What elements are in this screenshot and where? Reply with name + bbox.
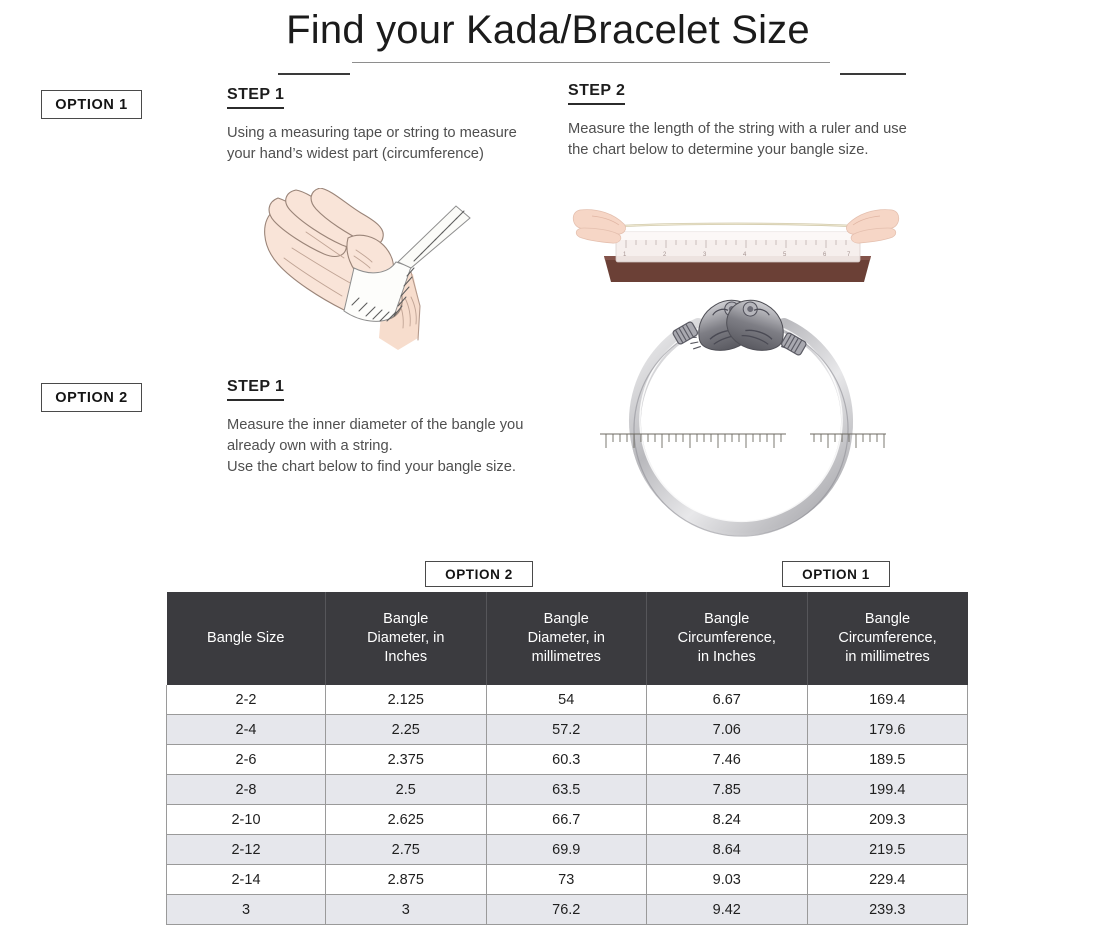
cell-value-4: 219.5 — [807, 835, 968, 865]
cell-value-2: 57.2 — [486, 715, 647, 745]
open-kada-bangle-with-ruler-photo — [580, 288, 902, 550]
cell-value-4: 209.3 — [807, 805, 968, 835]
cell-value-3: 7.06 — [647, 715, 808, 745]
option1-step1-body: Using a measuring tape or string to meas… — [227, 123, 517, 165]
option1-step1-title: STEP 1 — [227, 86, 284, 109]
cell-value-3: 8.64 — [647, 835, 808, 865]
cell-value-4: 239.3 — [807, 895, 968, 925]
cell-value-3: 9.03 — [647, 865, 808, 895]
cell-bangle-size: 2-12 — [167, 835, 326, 865]
cell-value-1: 3 — [326, 895, 487, 925]
cell-value-2: 63.5 — [486, 775, 647, 805]
cell-value-3: 8.24 — [647, 805, 808, 835]
cell-value-4: 179.6 — [807, 715, 968, 745]
cell-bangle-size: 2-4 — [167, 715, 326, 745]
cell-value-4: 169.4 — [807, 685, 968, 715]
bangle-size-table: Bangle SizeBangleDiameter, inInchesBangl… — [166, 592, 968, 925]
table-row: 2-42.2557.27.06179.6 — [167, 715, 968, 745]
cell-value-1: 2.375 — [326, 745, 487, 775]
table-body: 2-22.125546.67169.42-42.2557.27.06179.62… — [167, 685, 968, 925]
table-row: 2-122.7569.98.64219.5 — [167, 835, 968, 865]
string-measured-with-ruler-photo: 123 456 7 — [566, 194, 906, 294]
option1-step1-block: STEP 1 Using a measuring tape or string … — [227, 86, 517, 165]
cell-value-1: 2.625 — [326, 805, 487, 835]
cell-value-2: 73 — [486, 865, 647, 895]
cell-value-3: 6.67 — [647, 685, 808, 715]
cell-bangle-size: 2-2 — [167, 685, 326, 715]
option-2-badge: OPTION 2 — [41, 383, 142, 412]
table-header-cell-3: BangleCircumference,in Inches — [647, 592, 808, 685]
cell-value-1: 2.5 — [326, 775, 487, 805]
cell-value-2: 69.9 — [486, 835, 647, 865]
decorative-rule-left — [278, 73, 350, 75]
hand-with-measuring-tape-icon — [248, 188, 498, 373]
table-option-2-badge: OPTION 2 — [425, 561, 533, 587]
cell-value-4: 189.5 — [807, 745, 968, 775]
cell-value-4: 229.4 — [807, 865, 968, 895]
option2-step1-title: STEP 1 — [227, 378, 284, 401]
cell-value-4: 199.4 — [807, 775, 968, 805]
table-row: 2-142.875739.03229.4 — [167, 865, 968, 895]
table-row: 2-82.563.57.85199.4 — [167, 775, 968, 805]
cell-value-1: 2.125 — [326, 685, 487, 715]
cell-value-3: 7.85 — [647, 775, 808, 805]
cell-value-2: 54 — [486, 685, 647, 715]
option2-step1-body: Measure the inner diameter of the bangle… — [227, 415, 557, 478]
table-header-cell-1: BangleDiameter, inInches — [326, 592, 487, 685]
cell-bangle-size: 2-8 — [167, 775, 326, 805]
table-option-1-badge: OPTION 1 — [782, 561, 890, 587]
table-header-row: Bangle SizeBangleDiameter, inInchesBangl… — [167, 592, 968, 685]
option1-step2-title: STEP 2 — [568, 82, 625, 105]
cell-value-3: 7.46 — [647, 745, 808, 775]
option1-step2-block: STEP 2 Measure the length of the string … — [568, 82, 918, 161]
title-underline — [352, 62, 830, 63]
table-row: 2-102.62566.78.24209.3 — [167, 805, 968, 835]
cell-value-2: 66.7 — [486, 805, 647, 835]
cell-value-1: 2.875 — [326, 865, 487, 895]
table-row: 3376.29.42239.3 — [167, 895, 968, 925]
option1-step2-body: Measure the length of the string with a … — [568, 119, 918, 161]
cell-value-1: 2.25 — [326, 715, 487, 745]
cell-value-2: 76.2 — [486, 895, 647, 925]
decorative-rule-right — [840, 73, 906, 75]
cell-bangle-size: 2-6 — [167, 745, 326, 775]
table-header-cell-4: BangleCircumference,in millimetres — [807, 592, 968, 685]
cell-bangle-size: 2-10 — [167, 805, 326, 835]
cell-value-1: 2.75 — [326, 835, 487, 865]
table-row: 2-22.125546.67169.4 — [167, 685, 968, 715]
cell-value-2: 60.3 — [486, 745, 647, 775]
cell-bangle-size: 2-14 — [167, 865, 326, 895]
option-1-badge: OPTION 1 — [41, 90, 142, 119]
cell-bangle-size: 3 — [167, 895, 326, 925]
table-row: 2-62.37560.37.46189.5 — [167, 745, 968, 775]
table-header-cell-0: Bangle Size — [167, 592, 326, 685]
table-header-cell-2: BangleDiameter, inmillimetres — [486, 592, 647, 685]
page-title: Find your Kada/Bracelet Size — [0, 8, 1096, 53]
option2-step1-block: STEP 1 Measure the inner diameter of the… — [227, 378, 557, 478]
cell-value-3: 9.42 — [647, 895, 808, 925]
